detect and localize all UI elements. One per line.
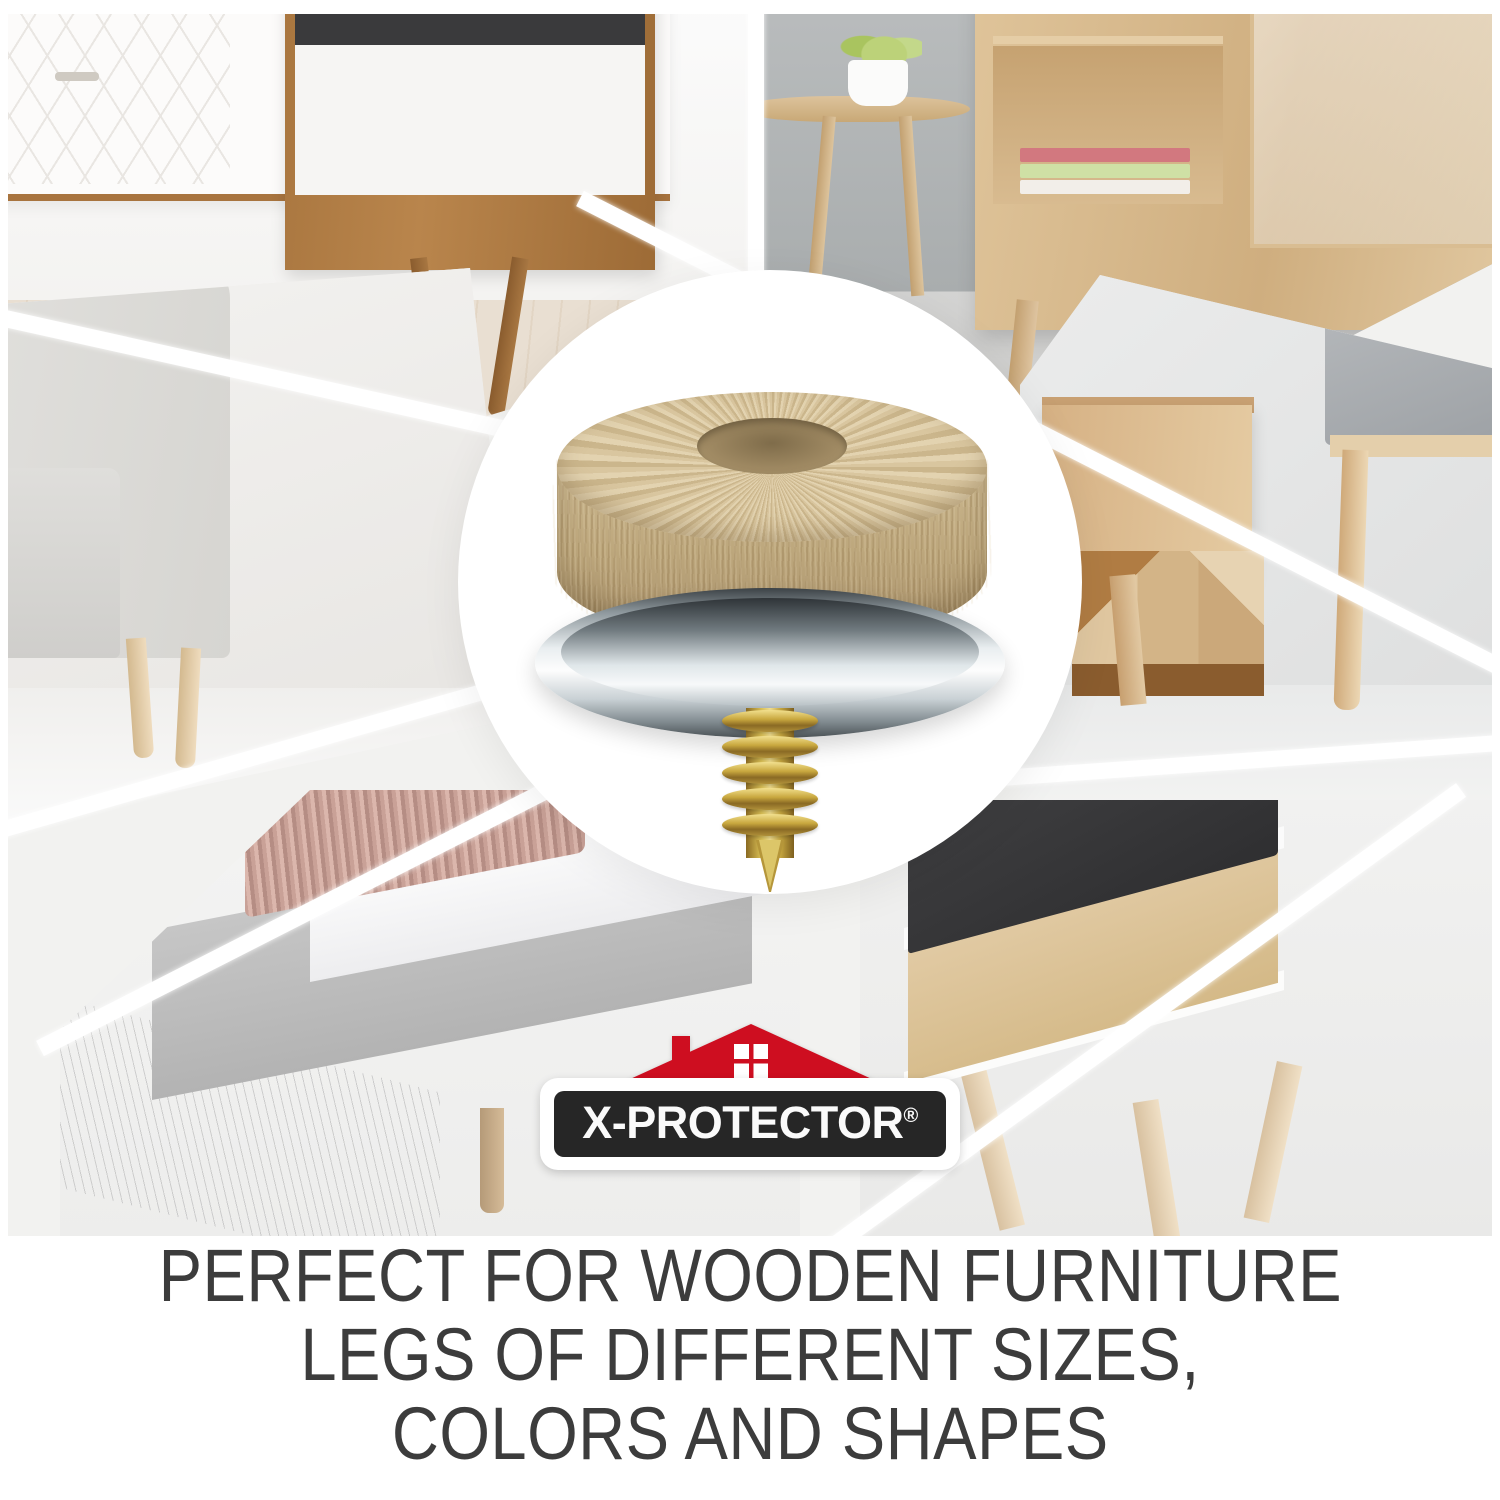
armchair-armrest bbox=[0, 468, 120, 658]
frame-edge bbox=[0, 0, 8, 1240]
product-hero-circle bbox=[460, 272, 1080, 892]
diamond-pattern-door bbox=[0, 0, 230, 184]
door-handle bbox=[55, 72, 99, 81]
tagline-line-3: COLORS AND SHAPES bbox=[392, 1394, 1109, 1473]
screw-thread bbox=[722, 762, 818, 784]
wood-screw bbox=[722, 708, 818, 892]
screw-thread bbox=[722, 814, 818, 836]
felt-pad-assembly bbox=[535, 392, 1005, 832]
book bbox=[1020, 148, 1190, 162]
furniture-leg bbox=[1244, 1061, 1303, 1223]
screw-thread bbox=[722, 788, 818, 810]
book bbox=[1020, 180, 1190, 194]
marquetry-pattern bbox=[1072, 551, 1264, 696]
book-stack bbox=[1020, 148, 1190, 202]
felt-center-hole bbox=[697, 418, 847, 474]
brand-name: X-PROTECTOR® bbox=[582, 1097, 917, 1149]
collage-panel-armchair bbox=[0, 268, 520, 828]
table-leg bbox=[899, 116, 925, 296]
tagline-line-1: PERFECT FOR WOODEN FURNITURE bbox=[158, 1236, 1341, 1315]
book bbox=[1020, 164, 1190, 178]
brand-name-text: X-PROTECTOR bbox=[582, 1097, 903, 1148]
registered-trademark-icon: ® bbox=[903, 1105, 917, 1127]
white-drawer bbox=[295, 45, 645, 195]
walnut-cabinet bbox=[285, 0, 655, 270]
screw-thread bbox=[722, 736, 818, 758]
frame-edge bbox=[1492, 0, 1500, 1240]
logo-badge: X-PROTECTOR® bbox=[554, 1091, 946, 1157]
brand-logo: X-PROTECTOR® bbox=[540, 1022, 960, 1200]
tagline-line-2: LEGS OF DIFFERENT SIZES, bbox=[300, 1315, 1199, 1394]
felt-disc-top bbox=[557, 392, 987, 542]
logo-plate: X-PROTECTOR® bbox=[540, 1078, 960, 1170]
frame-edge bbox=[0, 0, 1500, 14]
glass-door bbox=[1250, 0, 1500, 248]
furniture-leg bbox=[1133, 1099, 1184, 1240]
metal-washer-highlight bbox=[561, 598, 979, 706]
table-leg bbox=[807, 116, 836, 296]
panel-divider bbox=[748, 0, 764, 290]
screw-tip-highlight bbox=[759, 840, 781, 888]
furniture-leg bbox=[480, 1108, 504, 1213]
product-infographic: X-PROTECTOR® PERFECT FOR WOODEN FURNITUR… bbox=[0, 0, 1500, 1500]
tagline-block: PERFECT FOR WOODEN FURNITURE LEGS OF DIF… bbox=[0, 1236, 1500, 1500]
white-plant-pot bbox=[848, 60, 908, 106]
oak-display-cabinet bbox=[975, 0, 1500, 330]
cabinet-shelf-edge bbox=[993, 36, 1223, 44]
screw-thread bbox=[722, 710, 818, 732]
